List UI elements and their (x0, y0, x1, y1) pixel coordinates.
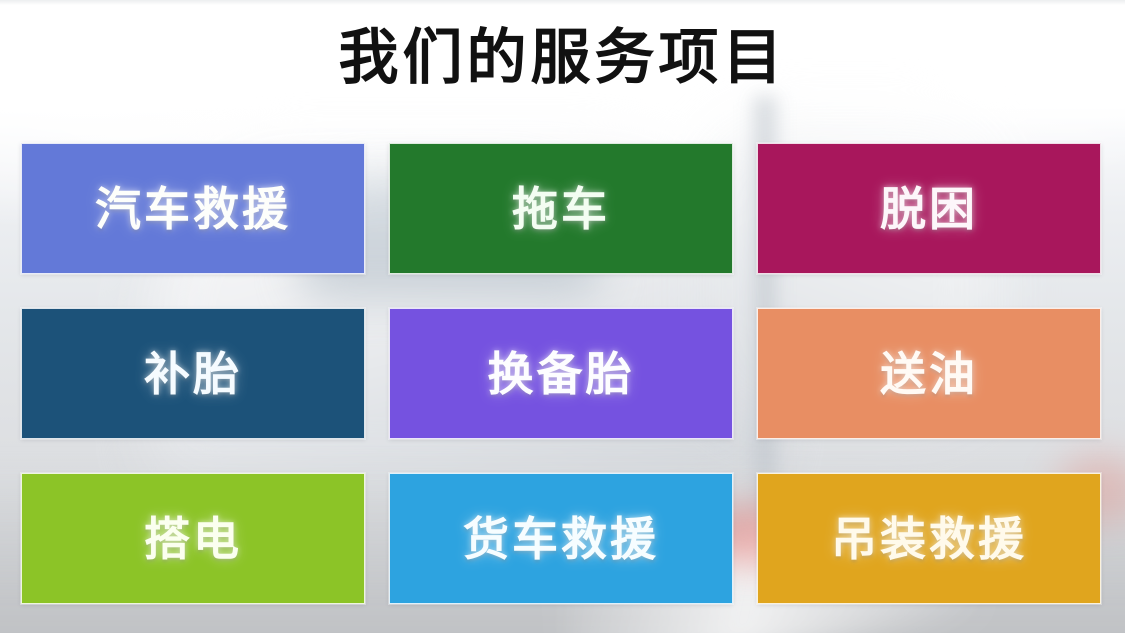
service-grid: 汽车救援 拖车 脱困 补胎 换备胎 送油 搭电 货车救援 吊装救援 (21, 143, 1102, 605)
service-tile-label: 吊装救援 (831, 513, 1027, 565)
service-tile-7[interactable]: 货车救援 (389, 473, 733, 604)
service-tile-label: 拖车 (512, 183, 610, 235)
service-tile-label: 汽车救援 (95, 183, 291, 235)
service-tile-label: 换备胎 (488, 348, 635, 400)
service-tile-6[interactable]: 搭电 (21, 473, 365, 604)
page-title: 我们的服务项目 (0, 22, 1125, 94)
service-tile-3[interactable]: 补胎 (21, 308, 365, 439)
service-tile-8[interactable]: 吊装救援 (757, 473, 1101, 604)
service-tile-label: 补胎 (144, 348, 242, 400)
service-tile-1[interactable]: 拖车 (389, 143, 733, 274)
service-tile-2[interactable]: 脱困 (757, 143, 1101, 274)
service-tile-label: 货车救援 (463, 513, 659, 565)
service-tile-label: 搭电 (144, 513, 242, 565)
service-tile-5[interactable]: 送油 (757, 308, 1101, 439)
service-poster: 我们的服务项目 汽车救援 拖车 脱困 补胎 换备胎 送油 搭电 货车救援 吊装救… (0, 0, 1125, 633)
service-tile-label: 脱困 (880, 183, 978, 235)
service-tile-0[interactable]: 汽车救援 (21, 143, 365, 274)
service-tile-label: 送油 (880, 348, 978, 400)
background-top-edge (0, 0, 1125, 5)
service-tile-4[interactable]: 换备胎 (389, 308, 733, 439)
